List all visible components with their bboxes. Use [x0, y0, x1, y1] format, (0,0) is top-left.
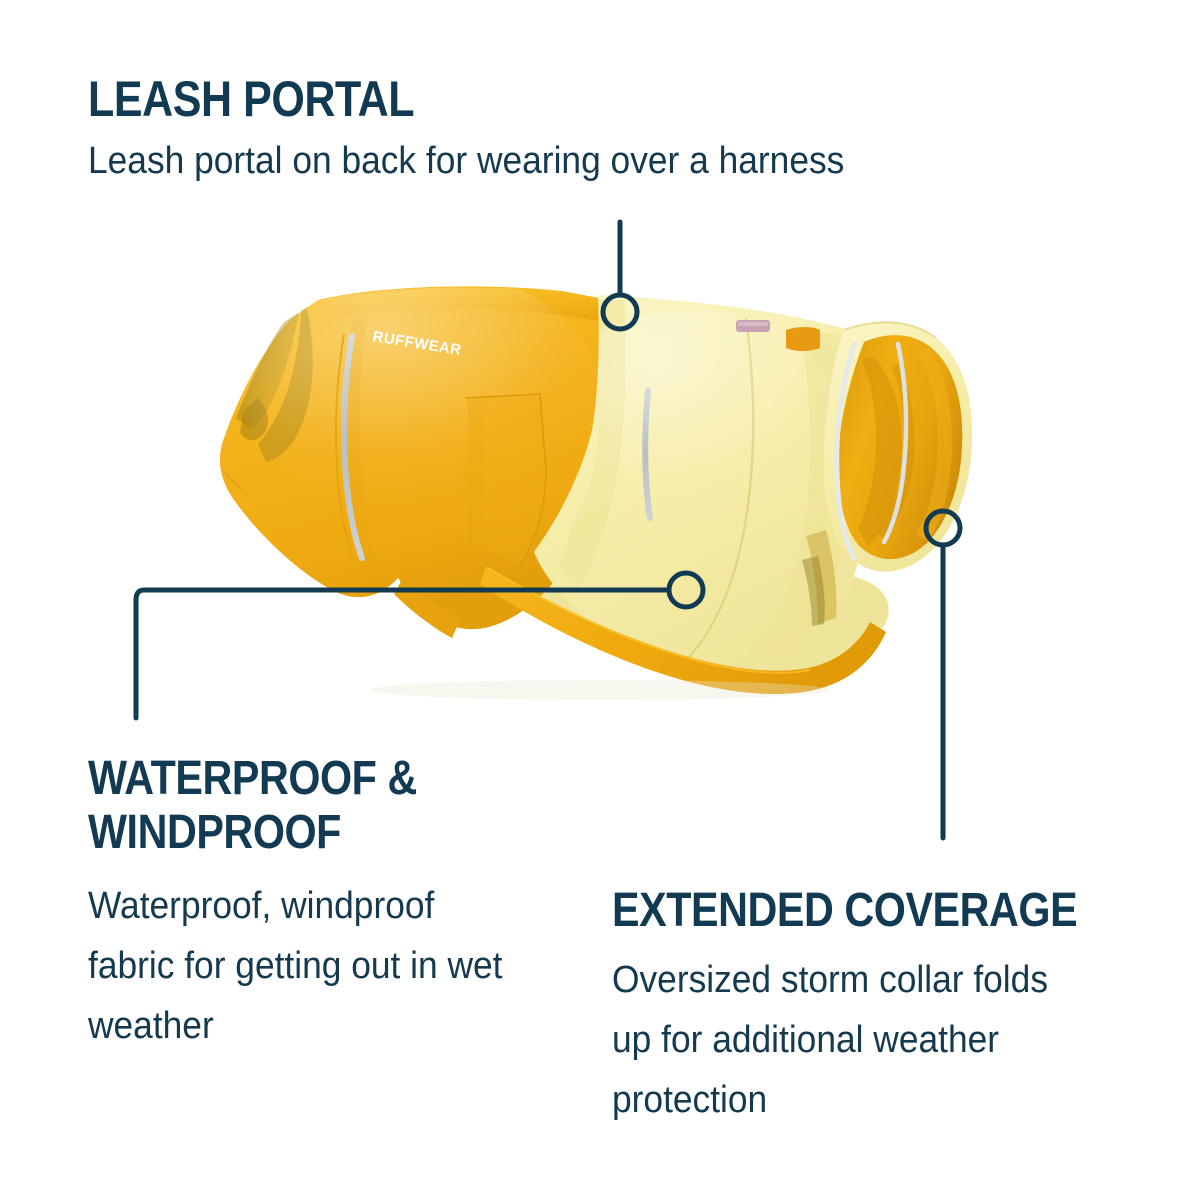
callout-heading-waterproof-line1: WATERPROOF &	[88, 752, 492, 806]
product-contact-shadow	[370, 680, 830, 700]
gear-loop	[786, 327, 820, 351]
callout-body-extended-coverage: Oversized storm collar folds up for addi…	[612, 950, 1077, 1130]
callout-body-waterproof: Waterproof, windproof fabric for getting…	[88, 876, 525, 1056]
callout-text-leash-portal: LEASH PORTAL Leash portal on back for we…	[88, 72, 901, 184]
callout-text-extended-coverage: EXTENDED COVERAGE Oversized storm collar…	[612, 884, 1112, 1130]
callout-heading-extended-coverage: EXTENDED COVERAGE	[612, 884, 1042, 938]
care-tag-highlight	[738, 322, 768, 326]
infographic-canvas: RUFFWEAR	[0, 0, 1200, 1200]
callout-body-leash-portal: Leash portal on back for wearing over a …	[88, 138, 844, 184]
callout-heading-leash-portal: LEASH PORTAL	[88, 72, 787, 126]
callout-text-waterproof: WATERPROOF & WINDPROOF Waterproof, windp…	[88, 752, 558, 1056]
callout-heading-waterproof-line2: WINDPROOF	[88, 806, 492, 860]
